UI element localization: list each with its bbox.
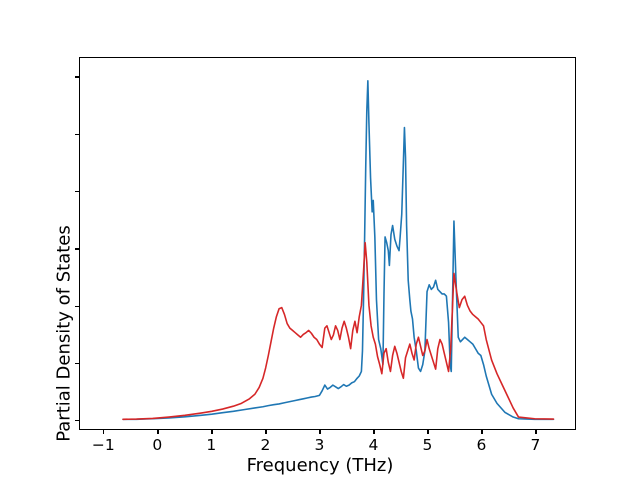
x-tick-mark	[535, 430, 536, 434]
y-tick-mark	[75, 134, 79, 135]
y-tick-mark	[75, 363, 79, 364]
x-tick-mark	[427, 430, 428, 434]
x-tick-mark	[481, 430, 482, 434]
x-tick-label: 5	[423, 436, 433, 454]
x-tick-mark	[103, 430, 104, 434]
x-tick-label: −1	[92, 436, 115, 454]
y-axis-label-wrap: Partial Density of States	[18, 93, 42, 393]
y-tick-mark	[75, 248, 79, 249]
plot-area	[79, 57, 576, 430]
x-tick-label: 3	[314, 436, 324, 454]
curves-svg	[80, 58, 575, 429]
y-tick-mark	[75, 191, 79, 192]
x-tick-label: 1	[206, 436, 216, 454]
x-tick-label: 2	[260, 436, 270, 454]
line-series-red-curve	[123, 243, 553, 420]
x-tick-mark	[157, 430, 158, 434]
line-series-blue-curve	[123, 81, 553, 420]
x-tick-label: 6	[477, 436, 487, 454]
x-tick-label: 0	[152, 436, 162, 454]
y-tick-mark	[75, 76, 79, 77]
x-tick-mark	[265, 430, 266, 434]
x-tick-label: 7	[531, 436, 541, 454]
y-tick-mark	[75, 306, 79, 307]
x-axis-label: Frequency (THz)	[0, 455, 640, 476]
x-tick-mark	[373, 430, 374, 434]
x-tick-mark	[319, 430, 320, 434]
figure-canvas: 0.00.51.01.52.02.53.0 −101234567 Frequen…	[0, 0, 640, 480]
y-tick-mark	[75, 420, 79, 421]
x-tick-mark	[211, 430, 212, 434]
y-axis-label: Partial Density of States	[54, 184, 75, 484]
x-tick-label: 4	[368, 436, 378, 454]
